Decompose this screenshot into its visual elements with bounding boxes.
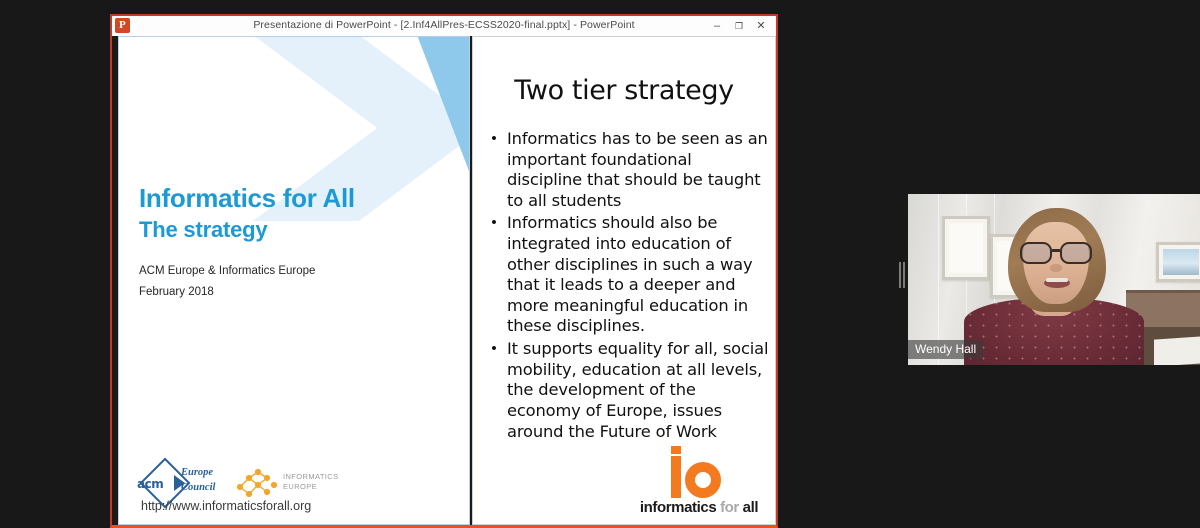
bullet-list: • Informatics has to be seen as an impor… [481,129,771,444]
list-item: • Informatics should also be integrated … [481,213,771,337]
ia-word-for: for [720,499,739,516]
person-nose [1050,264,1062,272]
network-nodes-icon [233,466,279,500]
list-item: • It supports equality for all, social m… [481,339,771,442]
acm-europe-council-logo: acm Europe Council [137,464,215,502]
title-slide-subheading: The strategy [139,217,267,243]
white-object [1154,336,1200,365]
ia-stem-shape [671,456,681,498]
wall-picture-frame [942,216,990,280]
title-slide[interactable]: Informatics for All The strategy ACM Eur… [118,36,470,525]
close-button[interactable]: ✕ [750,16,772,36]
video-drag-handle[interactable] [899,262,907,288]
glasses-lens-right [1060,242,1092,264]
informatics-europe-line1: INFORMATICS [283,472,339,481]
glasses-lens-left [1020,242,1052,264]
title-slide-date: February 2018 [139,286,214,298]
participant-video-tile[interactable]: Wendy Hall [908,194,1200,365]
minimize-button[interactable]: – [706,16,728,36]
ia-ring-shape [685,462,721,498]
title-slide-organisation: ACM Europe & Informatics Europe [139,265,315,277]
ia-dot-shape [671,446,681,454]
ia-word-informatics: informatics [640,499,716,516]
title-slide-heading: Informatics for All [139,185,355,212]
glasses-bridge [1052,249,1060,252]
bullet-text: Informatics has to be seen as an importa… [507,129,771,211]
informatics-europe-line2: EUROPE [283,482,317,491]
bullet-text: Informatics should also be integrated in… [507,213,771,337]
person-glasses [1020,242,1092,264]
ia-word-all: all [743,499,758,516]
window-title: Presentazione di PowerPoint - [2.Inf4All… [112,19,776,31]
url-overlay-text: http://www.informaticsforall.org [141,499,311,513]
ia-monogram-icon [671,446,729,498]
bullet-glyph: • [481,129,507,211]
content-slide[interactable]: Two tier strategy • Informatics has to b… [472,36,776,525]
informatics-europe-logo: INFORMATICS EUROPE [233,466,341,500]
participant-name-label: Wendy Hall [908,340,983,359]
acm-europe-label: Europe [181,467,213,478]
bullet-glyph: • [481,339,507,442]
acm-wordmark: acm [137,477,163,491]
sponsor-logos: acm Europe Council [137,464,341,502]
screen-root: Presentazione di PowerPoint - [2.Inf4All… [0,0,1200,528]
window-controls: – ❐ ✕ [706,16,772,36]
slide-area: Informatics for All The strategy ACM Eur… [112,36,776,525]
list-item: • Informatics has to be seen as an impor… [481,129,771,211]
bullet-text: It supports equality for all, social mob… [507,339,771,442]
bullet-glyph: • [481,213,507,337]
maximize-button[interactable]: ❐ [728,16,750,36]
person-teeth [1046,278,1068,282]
informatics-for-all-logo: informatics for all [629,446,769,518]
acm-council-label: Council [181,482,215,493]
powerpoint-window: Presentazione di PowerPoint - [2.Inf4All… [110,14,778,528]
ia-wordmark: informatics for all [629,499,769,516]
window-titlebar[interactable]: Presentazione di PowerPoint - [2.Inf4All… [112,16,776,37]
content-slide-title: Two tier strategy [473,75,775,106]
wall-picture-frame [1156,242,1200,282]
